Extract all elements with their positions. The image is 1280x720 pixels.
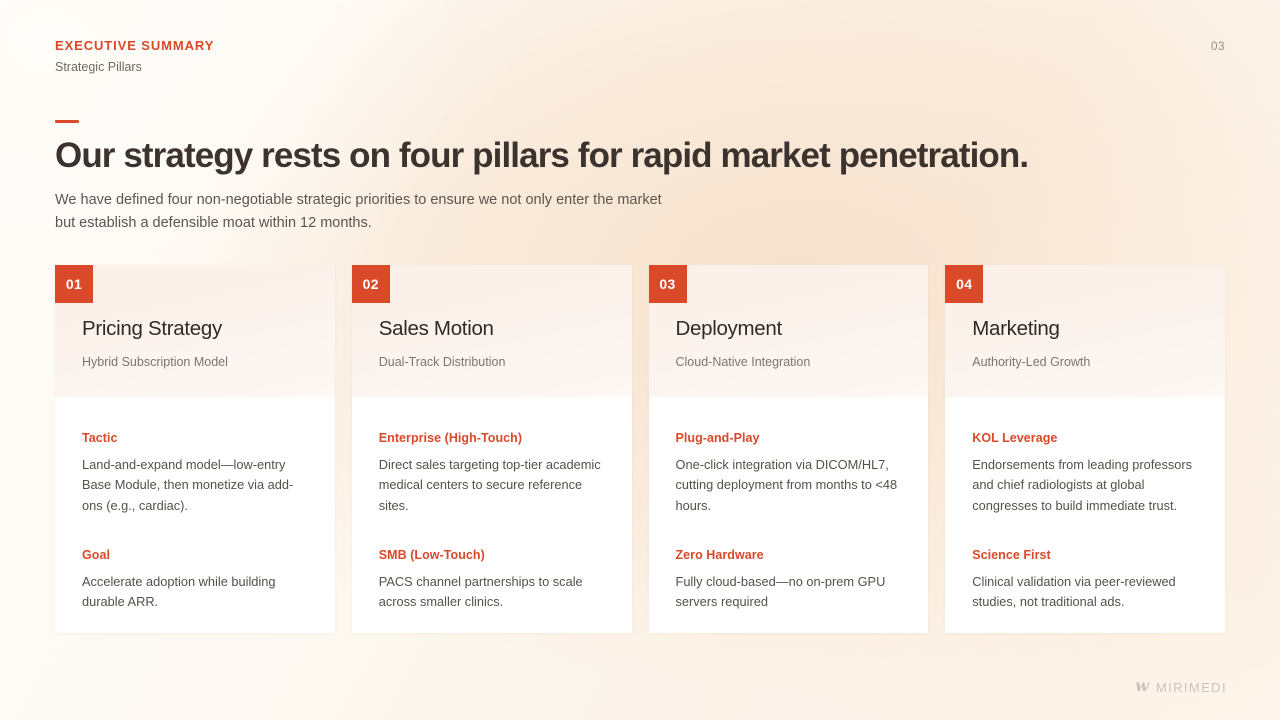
card-block-text: One-click integration via DICOM/HL7, cut…: [676, 455, 902, 516]
card-header: Marketing Authority-Led Growth: [945, 265, 1225, 397]
card-block-label: Tactic: [82, 430, 308, 446]
card-number-badge: 04: [945, 265, 983, 303]
card-block-label: Goal: [82, 547, 308, 563]
brand-logo: w MIRIMEDI: [1135, 679, 1227, 695]
card-block-label: Zero Hardware: [676, 547, 902, 563]
pillar-card[interactable]: 02 Sales Motion Dual-Track Distribution …: [352, 265, 632, 633]
card-block-text: Clinical validation via peer-reviewed st…: [972, 572, 1198, 612]
card-block: KOL Leverage Endorsements from leading p…: [972, 430, 1198, 516]
card-block-text: Direct sales targeting top-tier academic…: [379, 455, 605, 516]
pillar-card-grid: 01 Pricing Strategy Hybrid Subscription …: [55, 265, 1225, 633]
card-number-badge: 01: [55, 265, 93, 303]
card-block-text: Endorsements from leading professors and…: [972, 455, 1198, 516]
card-block: Plug-and-Play One-click integration via …: [676, 430, 902, 516]
card-block: Goal Accelerate adoption while building …: [82, 547, 308, 613]
card-block-label: SMB (Low-Touch): [379, 547, 605, 563]
pillar-card[interactable]: 01 Pricing Strategy Hybrid Subscription …: [55, 265, 335, 633]
card-subtitle: Hybrid Subscription Model: [82, 354, 308, 370]
page-subtitle: We have defined four non-negotiable stra…: [55, 189, 675, 236]
card-header: Sales Motion Dual-Track Distribution: [352, 265, 632, 397]
card-body: Tactic Land-and-expand model—low-entry B…: [55, 397, 335, 633]
card-number-badge: 03: [649, 265, 687, 303]
slide-eyebrow: EXECUTIVE SUMMARY Strategic Pillars: [55, 38, 214, 75]
card-block: Science First Clinical validation via pe…: [972, 547, 1198, 613]
card-block: SMB (Low-Touch) PACS channel partnership…: [379, 547, 605, 613]
eyebrow-title: EXECUTIVE SUMMARY: [55, 38, 214, 54]
accent-rule: [55, 120, 79, 123]
card-block-text: Fully cloud-based—no on-prem GPU servers…: [676, 572, 902, 612]
slide: EXECUTIVE SUMMARY Strategic Pillars 03 O…: [0, 0, 1280, 720]
card-body: KOL Leverage Endorsements from leading p…: [945, 397, 1225, 633]
card-title: Sales Motion: [379, 317, 605, 342]
card-block-label: KOL Leverage: [972, 430, 1198, 446]
card-title: Pricing Strategy: [82, 317, 308, 342]
card-subtitle: Dual-Track Distribution: [379, 354, 605, 370]
card-title: Deployment: [676, 317, 902, 342]
card-block-text: Land-and-expand model—low-entry Base Mod…: [82, 455, 308, 516]
card-header: Pricing Strategy Hybrid Subscription Mod…: [55, 265, 335, 397]
pillar-card[interactable]: 03 Deployment Cloud-Native Integration P…: [649, 265, 929, 633]
card-subtitle: Authority-Led Growth: [972, 354, 1198, 370]
card-body: Enterprise (High-Touch) Direct sales tar…: [352, 397, 632, 633]
card-block: Zero Hardware Fully cloud-based—no on-pr…: [676, 547, 902, 613]
logo-wordmark: MIRIMEDI: [1156, 680, 1227, 695]
card-block: Tactic Land-and-expand model—low-entry B…: [82, 430, 308, 516]
card-block-label: Plug-and-Play: [676, 430, 902, 446]
pillar-card[interactable]: 04 Marketing Authority-Led Growth KOL Le…: [945, 265, 1225, 633]
card-block-text: Accelerate adoption while building durab…: [82, 572, 308, 612]
eyebrow-subtitle: Strategic Pillars: [55, 60, 214, 75]
card-number-badge: 02: [352, 265, 390, 303]
page-number: 03: [1211, 39, 1225, 53]
card-block: Enterprise (High-Touch) Direct sales tar…: [379, 430, 605, 516]
card-block-label: Science First: [972, 547, 1198, 563]
card-subtitle: Cloud-Native Integration: [676, 354, 902, 370]
card-block-text: PACS channel partnerships to scale acros…: [379, 572, 605, 612]
card-header: Deployment Cloud-Native Integration: [649, 265, 929, 397]
logo-mark-icon: w: [1135, 678, 1149, 694]
card-block-label: Enterprise (High-Touch): [379, 430, 605, 446]
page-title: Our strategy rests on four pillars for r…: [55, 135, 1155, 176]
card-body: Plug-and-Play One-click integration via …: [649, 397, 929, 633]
card-title: Marketing: [972, 317, 1198, 342]
